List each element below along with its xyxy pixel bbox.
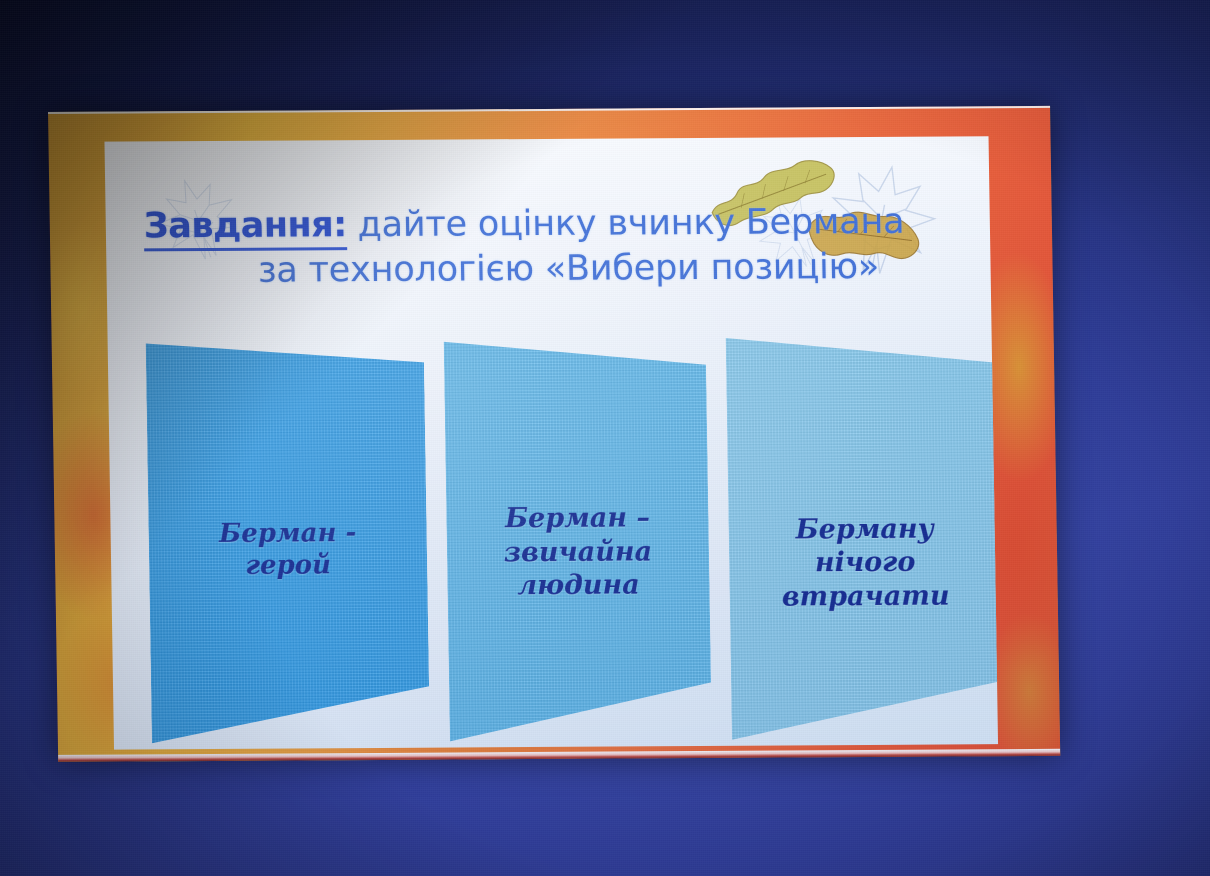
banner-label-line: Берман – bbox=[460, 501, 695, 536]
banner-label-line: людина bbox=[461, 568, 696, 603]
slide-bottom-edge bbox=[58, 749, 1060, 762]
title-keyword: Завдання: bbox=[143, 205, 347, 251]
banner-option-hero[interactable]: Берман - герой bbox=[146, 336, 430, 748]
banner-option-nothing-to-lose[interactable]: Берману нічого втрачати bbox=[726, 332, 998, 744]
slide-frame: Завдання: дайте оцінку вчинку Бермана за… bbox=[48, 106, 1060, 762]
banner-label-line: Берман - bbox=[162, 517, 413, 551]
banner-label-line: Берману bbox=[742, 512, 987, 547]
slide-container: Завдання: дайте оцінку вчинку Бермана за… bbox=[48, 106, 1060, 762]
slide-canvas: Завдання: дайте оцінку вчинку Бермана за… bbox=[104, 136, 998, 749]
banner-option-ordinary-person[interactable]: Берман – звичайна людина bbox=[444, 334, 712, 746]
photo-of-projected-slide: Завдання: дайте оцінку вчинку Бермана за… bbox=[0, 0, 1210, 876]
banner-label-line: звичайна bbox=[461, 535, 696, 570]
banner-label: Берман – звичайна людина bbox=[446, 501, 710, 603]
title-rest: дайте оцінку вчинку Бермана bbox=[346, 202, 904, 245]
slide-title: Завдання: дайте оцінку вчинку Бермана за… bbox=[130, 202, 967, 291]
position-choice-banners: Берман - герой Берман – звичайна людина bbox=[146, 332, 980, 747]
banner-label-line: герой bbox=[163, 549, 414, 583]
banner-label: Берману нічого втрачати bbox=[728, 512, 998, 614]
banner-label-line: нічого bbox=[743, 545, 988, 580]
banner-label: Берман - герой bbox=[148, 517, 427, 583]
banner-label-line: втрачати bbox=[743, 579, 988, 614]
title-line-1: Завдання: дайте оцінку вчинку Бермана bbox=[130, 202, 967, 246]
title-line-2: за технологією «Вибери позицію» bbox=[130, 248, 967, 292]
